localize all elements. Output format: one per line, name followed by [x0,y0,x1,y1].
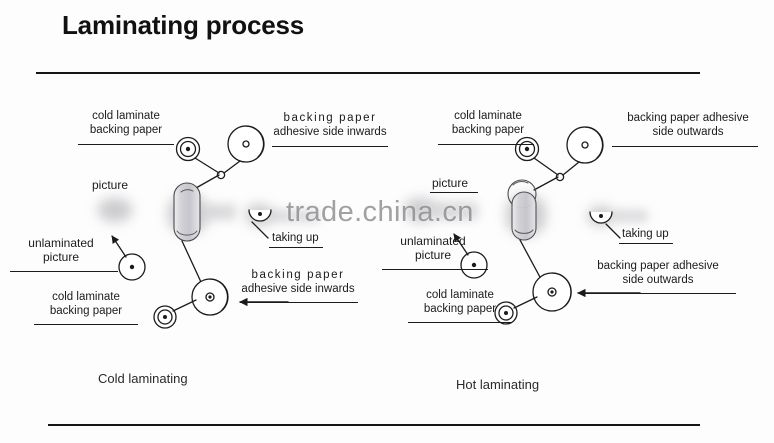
cold-backing-bottom-line1: backing paper [240,269,356,283]
hot-laminator-cylinder [508,180,536,240]
cold-label-top-supply: cold laminate backing paper [78,110,174,137]
cold-bottom-supply-line2: backing paper [38,305,134,319]
cold-top-supply-underline [78,144,174,145]
hot-bottom-supply-line1: cold laminate [412,289,508,303]
hot-unlaminated-line1: unlaminated [382,234,484,248]
hot-backing-top-line2: side outwards [610,126,766,140]
hot-web-bottom [514,297,537,308]
hot-takeup-spool [590,212,612,223]
caption-cold-laminating: Cold laminating [98,371,188,386]
hot-roll-bottom-large [533,273,571,311]
cold-takeup-roll-top [228,126,264,162]
hot-unlaminated-line2: picture [382,248,484,262]
cold-label-picture: picture [92,178,128,192]
hot-supply-roll-top [516,138,539,161]
cold-taking-up-underline [269,247,323,248]
cold-label-backing-bottom: backing paper adhesive side inwards [240,269,356,296]
hot-backing-bottom-line1: backing paper adhesive [580,260,736,274]
hot-web-into-nip [534,177,558,190]
cold-takeup-leader [252,222,268,238]
cold-backing-bottom-underline [240,302,358,303]
cold-label-bottom-supply: cold laminate backing paper [38,291,134,318]
cold-unlaminated-line1: unlaminated [10,236,112,250]
cold-top-supply-line1: cold laminate [78,110,174,124]
cold-web-supply-top [195,158,219,173]
cold-takeup-spool [249,210,271,221]
cold-roll-bottom-small [154,306,176,328]
cold-supply-roll-top [177,138,200,161]
hot-backing-bottom-underline [580,293,736,294]
hot-takeup-leader [606,224,620,238]
hot-label-top-supply: cold laminate backing paper [440,110,536,137]
hot-backing-top-line1: backing paper adhesive [610,112,766,126]
cold-web-takeup-top [224,161,240,173]
hot-top-supply-line1: cold laminate [440,110,536,124]
cold-backing-top-line2: adhesive side inwards [272,126,388,140]
cold-label-taking-up: taking up [272,232,319,246]
hot-label-picture: picture [432,176,468,190]
hot-label-taking-up: taking up [622,228,669,242]
hot-label-unlaminated: unlaminated picture [382,234,484,262]
hot-bottom-supply-underline [408,322,512,323]
hot-top-supply-line2: backing paper [440,124,536,138]
hot-taking-up-underline [619,243,673,244]
cold-label-unlaminated: unlaminated picture [10,236,112,264]
cold-web-bottom [173,300,196,311]
cold-unlaminated-roll [119,254,145,280]
laminating-process-figure: Laminating process [0,0,774,443]
hot-web-takeup-top [563,162,579,175]
hot-backing-bottom-line2: side outwards [580,274,736,288]
hot-picture-underline [430,192,478,193]
cold-unlaminated-leader [112,236,126,257]
hot-takeup-roll-top [567,127,603,163]
cold-label-backing-top: backing paper adhesive side inwards [272,112,388,139]
hot-label-bottom-supply: cold laminate backing paper [412,289,508,316]
hot-backing-top-underline [612,146,758,147]
hot-label-backing-bottom: backing paper adhesive side outwards [580,260,736,287]
cold-bottom-supply-line1: cold laminate [38,291,134,305]
cold-unlaminated-line2: picture [10,250,112,264]
cold-top-supply-line2: backing paper [78,124,174,138]
cold-backing-bottom-line2: adhesive side inwards [240,283,356,297]
hot-bottom-supply-line2: backing paper [412,303,508,317]
cold-web-into-nip [196,175,219,188]
cold-bottom-supply-underline [34,324,138,325]
caption-hot-laminating: Hot laminating [456,377,539,392]
hot-label-backing-top: backing paper adhesive side outwards [610,112,766,139]
cold-roll-bottom-large [192,279,228,315]
hot-web-supply-top [534,158,558,175]
cold-unlaminated-underline [10,271,118,272]
cold-backing-top-line1: backing paper [272,112,388,126]
cold-laminator-cylinder [174,183,200,241]
hot-unlaminated-underline [382,269,488,270]
hot-top-supply-underline [438,144,534,145]
cold-backing-top-underline [272,146,388,147]
